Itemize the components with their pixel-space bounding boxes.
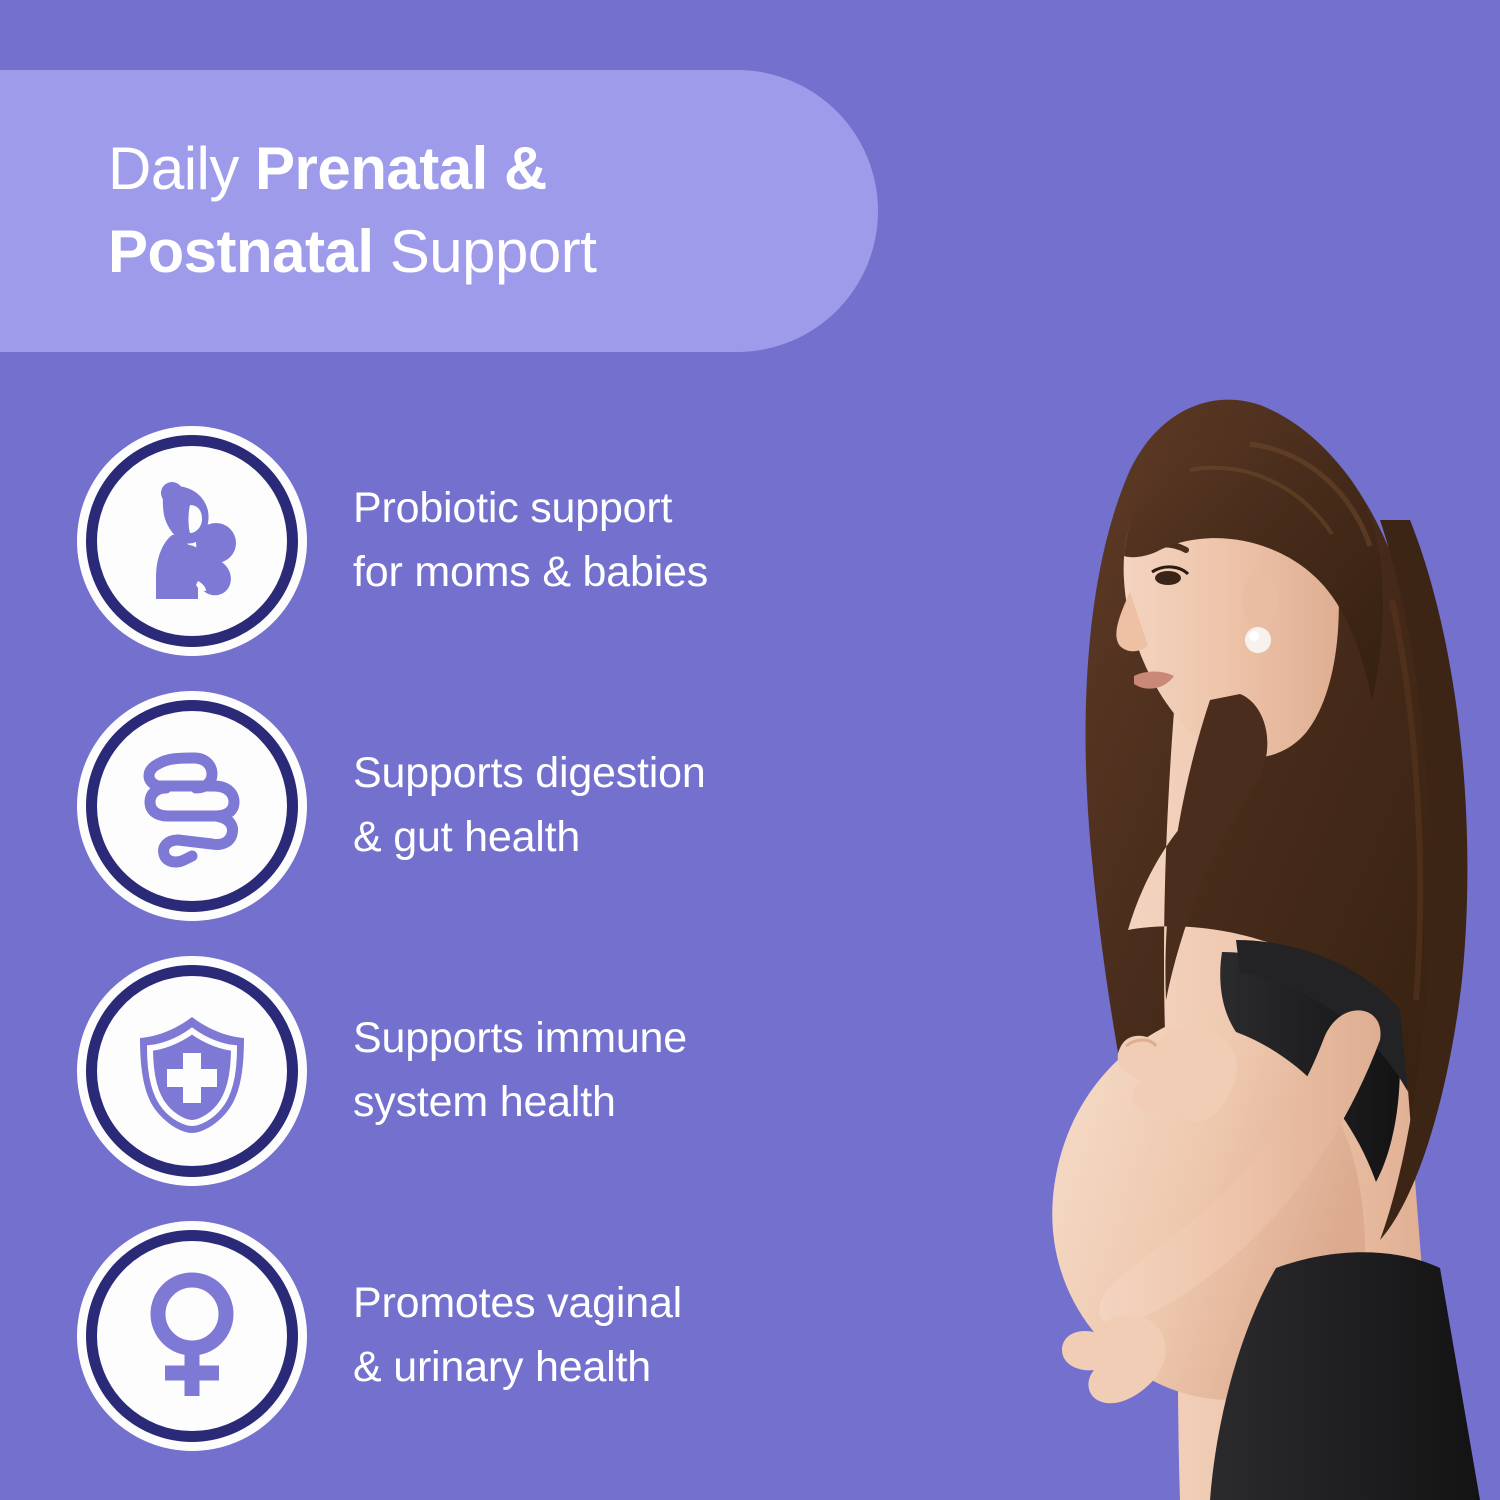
mother-and-baby-icon	[132, 479, 252, 603]
benefit-icon-circle	[86, 965, 298, 1177]
benefit-line-1: Supports immune	[353, 1007, 687, 1071]
intestine-icon	[128, 744, 256, 868]
benefit-line-1: Promotes vaginal	[353, 1272, 682, 1336]
female-symbol-icon	[137, 1270, 247, 1402]
pregnant-woman-illustration	[880, 0, 1500, 1500]
benefit-row: Supports digestion & gut health	[0, 673, 880, 938]
benefit-icon-circle	[86, 435, 298, 647]
benefit-row: Supports immune system health	[0, 938, 880, 1203]
page-title-line-2: Postnatal Support	[108, 211, 878, 294]
header-banner: Daily Prenatal & Postnatal Support	[0, 70, 878, 352]
page-title-line-1: Daily Prenatal &	[108, 128, 878, 211]
benefit-line-2: & gut health	[353, 806, 706, 870]
benefit-row: Probiotic support for moms & babies	[0, 408, 880, 673]
product-lifestyle-photo	[880, 0, 1500, 1500]
benefit-icon-circle	[86, 700, 298, 912]
title-light-2: Support	[390, 218, 597, 285]
benefit-icon-circle	[86, 1230, 298, 1442]
benefit-line-2: system health	[353, 1071, 687, 1135]
benefit-line-1: Probiotic support	[353, 477, 708, 541]
benefit-line-1: Supports digestion	[353, 742, 706, 806]
benefit-text: Probiotic support for moms & babies	[353, 477, 708, 604]
benefit-row: Promotes vaginal & urinary health	[0, 1203, 880, 1468]
title-light-1: Daily	[108, 135, 255, 202]
benefit-text: Supports digestion & gut health	[353, 742, 706, 869]
benefits-list: Probiotic support for moms & babies	[0, 408, 880, 1468]
benefit-line-2: & urinary health	[353, 1336, 682, 1400]
title-bold-2: Postnatal	[108, 218, 390, 285]
benefit-line-2: for moms & babies	[353, 541, 708, 605]
benefit-text: Promotes vaginal & urinary health	[353, 1272, 682, 1399]
benefit-text: Supports immune system health	[353, 1007, 687, 1134]
shield-cross-icon	[130, 1009, 254, 1133]
title-bold-1: Prenatal &	[255, 135, 547, 202]
